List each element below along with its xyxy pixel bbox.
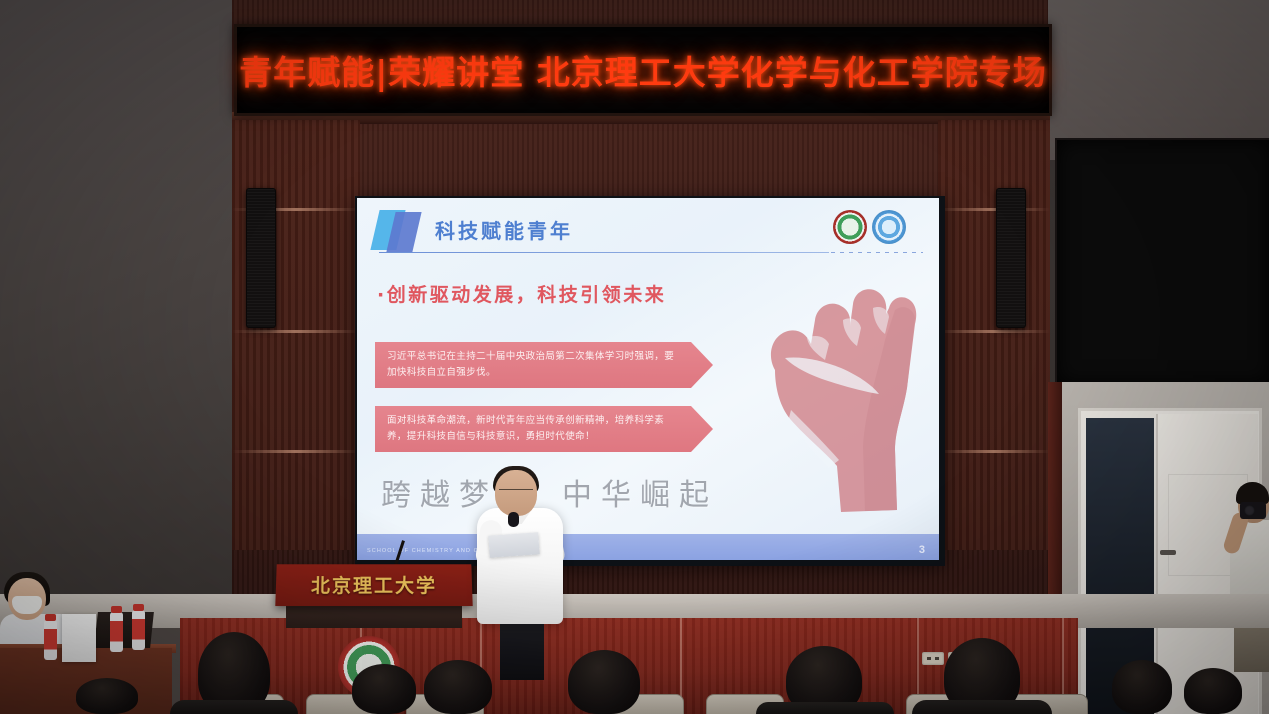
raised-fist-illustration (745, 260, 921, 528)
callout-quote-2: 面对科技革命潮流，新时代青年应当传承创新精神，培养科学素养，提升科技自信与科技意… (375, 406, 713, 452)
title-underline-dashed (831, 252, 923, 253)
audience-shoulders (170, 700, 298, 714)
audience-head (76, 678, 138, 714)
wood-column-left (232, 120, 360, 550)
bottle-cap (111, 606, 122, 613)
wall-trim-line (938, 330, 1050, 333)
audience-head (1184, 668, 1242, 714)
upper-right-wall (1048, 0, 1269, 160)
door-handle[interactable] (1160, 550, 1176, 555)
audience-head (1112, 660, 1172, 714)
audience-head (568, 650, 640, 714)
podium: 北京理工大学 (275, 564, 472, 606)
calligraphy-right: 中华崛起 (562, 470, 718, 514)
wall-speaker-left (246, 188, 276, 328)
water-bottle (110, 612, 123, 652)
presentation-slide: 科技赋能青年 ·创新驱动发展，科技引领未来 习近平总书记在主持二十届中央政治局第… (357, 198, 939, 560)
face-mask-icon (12, 596, 42, 614)
wall-trim-line (938, 208, 1050, 211)
water-bottle (44, 620, 57, 660)
camera-icon (1240, 502, 1266, 519)
wall-trim-line (232, 330, 360, 333)
audience-head (352, 664, 416, 714)
lecture-hall-photo: 青年赋能|荣耀讲堂 北京理工大学化学与化工学院专场 科技赋能青年 ·创新驱动发展… (0, 0, 1269, 714)
led-banner: 青年赋能|荣耀讲堂 北京理工大学化学与化工学院专场 (234, 24, 1052, 116)
slide-footer-bar: SCHOOL OF CHEMISTRY AND CHEMICAL ENGINEE… (357, 534, 939, 560)
tissue-box (62, 614, 96, 662)
wall-trim-line (232, 450, 360, 453)
slide-page-number: 3 (919, 544, 925, 556)
glasses-icon (499, 489, 533, 497)
projection-screen: 科技赋能青年 ·创新驱动发展，科技引领未来 习近平总书记在主持二十届中央政治局第… (355, 196, 945, 566)
water-bottle (132, 610, 145, 650)
bit-seal-logo (833, 210, 867, 244)
wood-column-right (938, 120, 1050, 550)
slide-subtitle: ·创新驱动发展，科技引领未来 (377, 280, 666, 307)
speaker-legs (500, 620, 544, 680)
callout-quote-1: 习近平总书记在主持二十届中央政治局第二次集体学习时强调，要加快科技自立自强步伐。 (375, 342, 713, 388)
led-banner-text: 青年赋能|荣耀讲堂 北京理工大学化学与化工学院专场 (239, 46, 1047, 94)
bottle-cap (45, 614, 56, 621)
speaker-notes-paper (488, 532, 539, 557)
chemistry-school-seal-logo (872, 210, 906, 244)
audience-shoulders (756, 702, 894, 714)
bottle-cap (133, 604, 144, 611)
podium-label: 北京理工大学 (276, 571, 473, 598)
slide-header: 科技赋能青年 (357, 198, 939, 256)
power-outlet (922, 652, 944, 665)
wall-display-panel (1055, 138, 1269, 386)
left-wall (0, 0, 232, 610)
microphone-icon (508, 512, 519, 527)
audience-shoulders (912, 700, 1052, 714)
slide-title: 科技赋能青年 (435, 215, 573, 244)
wall-trim-line (938, 450, 1050, 453)
title-underline (379, 252, 829, 253)
wall-speaker-right (996, 188, 1026, 328)
audience-head (424, 660, 492, 714)
